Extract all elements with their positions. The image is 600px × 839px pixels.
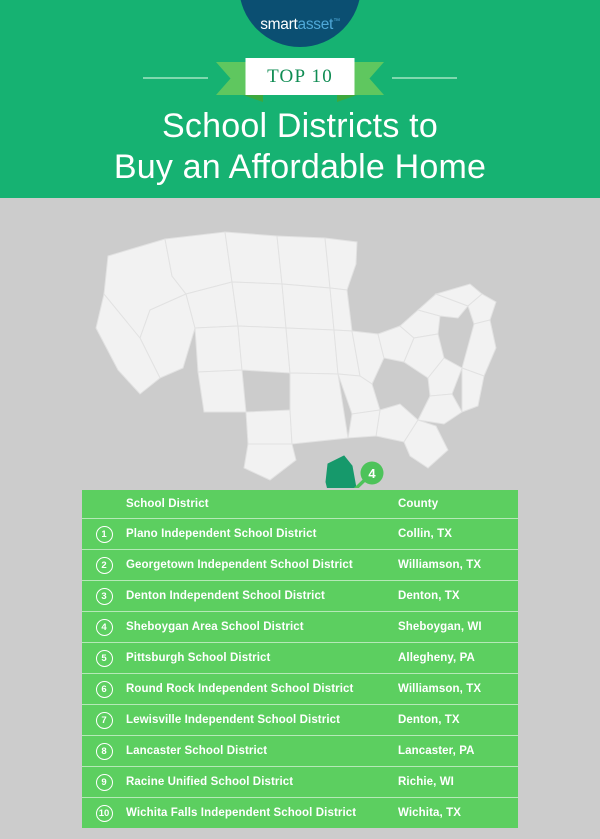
county-name: Williamson, TX — [398, 559, 518, 571]
page-title-line-2: Buy an Affordable Home — [0, 147, 600, 188]
table-row[interactable]: 3 Denton Independent School District Den… — [82, 581, 518, 612]
map-marker-bubbles — [265, 462, 463, 489]
district-name: Plano Independent School District — [126, 528, 398, 540]
table-row[interactable]: 10 Wichita Falls Independent School Dist… — [82, 798, 518, 828]
ribbon-fold-right — [337, 95, 357, 102]
table-row[interactable]: 2 Georgetown Independent School District… — [82, 550, 518, 581]
rank-cell: 7 — [82, 712, 126, 729]
ribbon-center-plate: TOP 10 — [246, 58, 355, 95]
county-name: Sheboygan, WI — [398, 621, 518, 633]
rank-cell: 8 — [82, 743, 126, 760]
ribbon-fold-left — [243, 95, 263, 102]
ribbon-rule-left — [143, 77, 208, 79]
rank-badge: 3 — [96, 588, 113, 605]
district-name: Round Rock Independent School District — [126, 683, 398, 695]
ribbon-rule-right — [392, 77, 457, 79]
rank-badge: 2 — [96, 557, 113, 574]
map-states-base — [96, 232, 496, 480]
rank-cell: 10 — [82, 805, 126, 822]
county-name: Denton, TX — [398, 714, 518, 726]
header-county: County — [398, 498, 518, 510]
top10-ribbon: TOP 10 — [0, 58, 600, 98]
page-title: School Districts to Buy an Affordable Ho… — [0, 106, 600, 188]
rank-badge: 8 — [96, 743, 113, 760]
us-map: 1 2 3 4 5 6 7 8 9 10 — [0, 198, 600, 488]
smartasset-logo: smartasset™ — [239, 0, 361, 47]
county-name: Collin, TX — [398, 528, 518, 540]
county-name: Wichita, TX — [398, 807, 518, 819]
table-row[interactable]: 1 Plano Independent School District Coll… — [82, 519, 518, 550]
table-row[interactable]: 9 Racine Unified School District Richie,… — [82, 767, 518, 798]
map-marker-label-4: 4 — [368, 466, 376, 481]
rank-cell: 4 — [82, 619, 126, 636]
rankings-table: School District County 1 Plano Independe… — [82, 490, 518, 828]
rank-badge: 6 — [96, 681, 113, 698]
rank-badge: 1 — [96, 526, 113, 543]
logo-asset-text: asset — [298, 16, 334, 33]
table-row[interactable]: 7 Lewisville Independent School District… — [82, 705, 518, 736]
trademark-icon: ™ — [333, 18, 340, 25]
county-name: Allegheny, PA — [398, 652, 518, 664]
map-markers: 1 2 3 4 5 6 7 8 9 10 — [265, 462, 463, 489]
district-name: Lancaster School District — [126, 745, 398, 757]
ribbon-label: TOP 10 — [267, 66, 333, 88]
district-name: Racine Unified School District — [126, 776, 398, 788]
county-name: Denton, TX — [398, 590, 518, 602]
rank-badge: 7 — [96, 712, 113, 729]
rank-cell: 6 — [82, 681, 126, 698]
page-header: smartasset™ TOP 10 School Districts to B… — [0, 0, 600, 198]
county-name: Lancaster, PA — [398, 745, 518, 757]
table-row[interactable]: 4 Sheboygan Area School District Sheboyg… — [82, 612, 518, 643]
rank-badge: 9 — [96, 774, 113, 791]
table-row[interactable]: 5 Pittsburgh School District Allegheny, … — [82, 643, 518, 674]
table-row[interactable]: 6 Round Rock Independent School District… — [82, 674, 518, 705]
rank-badge: 5 — [96, 650, 113, 667]
district-name: Wichita Falls Independent School Distric… — [126, 807, 398, 819]
district-name: Georgetown Independent School District — [126, 559, 398, 571]
county-name: Williamson, TX — [398, 683, 518, 695]
page-title-line-1: School Districts to — [0, 106, 600, 147]
header-school-district: School District — [126, 498, 398, 510]
district-name: Sheboygan Area School District — [126, 621, 398, 633]
us-map-svg: 1 2 3 4 5 6 7 8 9 10 — [0, 198, 600, 488]
rank-badge: 4 — [96, 619, 113, 636]
rank-cell: 3 — [82, 588, 126, 605]
rank-cell: 5 — [82, 650, 126, 667]
table-row[interactable]: 8 Lancaster School District Lancaster, P… — [82, 736, 518, 767]
rank-badge: 10 — [96, 805, 113, 822]
district-name: Denton Independent School District — [126, 590, 398, 602]
logo-smart-text: smart — [260, 16, 297, 33]
logo-wordmark: smartasset™ — [260, 16, 340, 34]
district-name: Pittsburgh School District — [126, 652, 398, 664]
rank-cell: 1 — [82, 526, 126, 543]
district-name: Lewisville Independent School District — [126, 714, 398, 726]
rank-cell: 2 — [82, 557, 126, 574]
rank-cell: 9 — [82, 774, 126, 791]
state-wisconsin — [326, 456, 356, 488]
table-header-row: School District County — [82, 490, 518, 519]
county-name: Richie, WI — [398, 776, 518, 788]
